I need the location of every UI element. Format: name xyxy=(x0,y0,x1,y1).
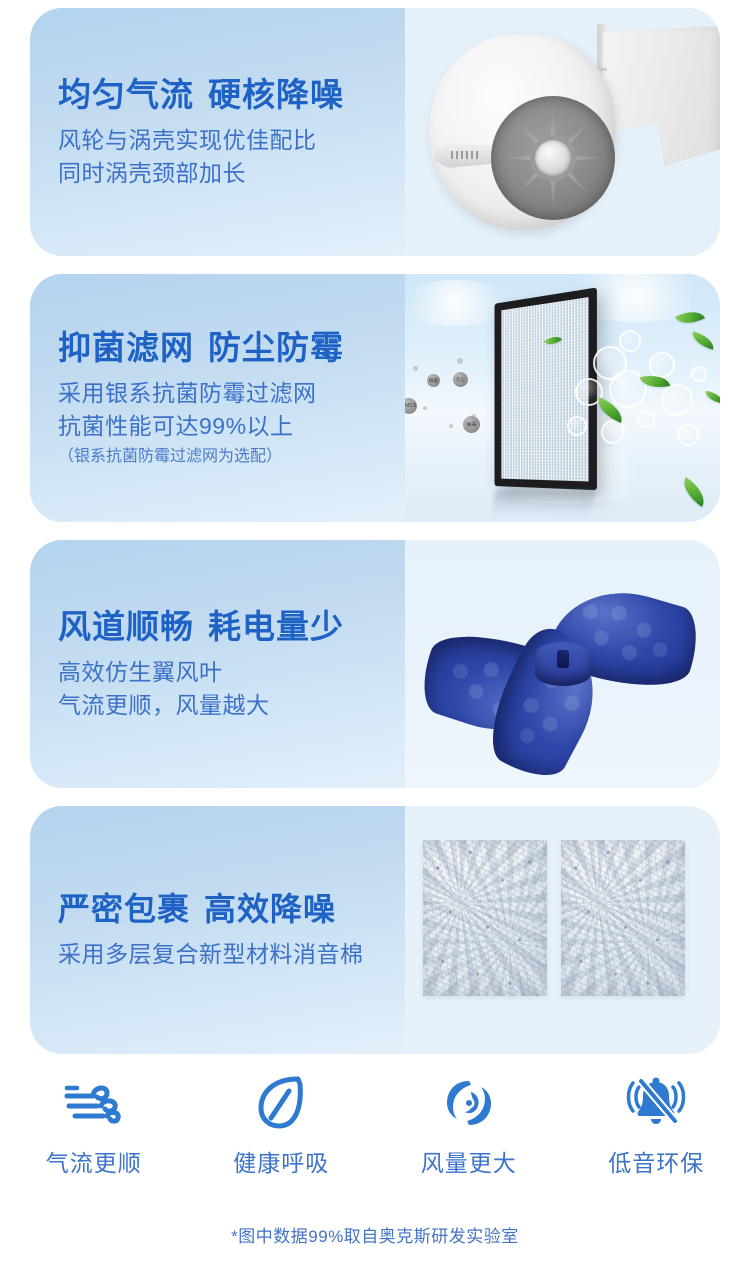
card-title-right: 耗电量少 xyxy=(208,608,344,645)
bubble xyxy=(619,330,641,352)
feature-icon-item-airvolume: 风量更大 xyxy=(384,1070,554,1178)
blower-impeller xyxy=(491,96,615,220)
card-text-pane: 抑菌滤网防尘防霉 采用银系抗菌防霉过滤网 抗菌性能可达99%以上 （银系抗菌防霉… xyxy=(30,274,405,522)
card-title: 风道顺畅耗电量少 xyxy=(58,606,405,647)
feature-card-airflow-noise: 均匀气流硬核降噪 风轮与涡壳实现优佳配比 同时涡壳颈部加长 xyxy=(30,8,720,256)
bubble xyxy=(601,420,625,444)
card-text-pane: 均匀气流硬核降噪 风轮与涡壳实现优佳配比 同时涡壳颈部加长 xyxy=(30,8,405,256)
card-title: 抑菌滤网防尘防霉 xyxy=(58,327,405,368)
bell-muted-icon xyxy=(571,1070,741,1136)
feature-card-tight-wrap-noise: 严密包裹高效降噪 采用多层复合新型材料消音棉 xyxy=(30,806,720,1054)
card-image-pane-fan-blade xyxy=(405,540,720,788)
acoustic-cotton-panel xyxy=(561,840,685,996)
card-subtitle-line-2: 同时涡壳颈部加长 xyxy=(58,157,405,190)
card-image-pane-air-filter: PM2.5 细菌 灰尘 病毒 xyxy=(405,274,720,522)
feature-icon-label: 气流更顺 xyxy=(9,1144,179,1178)
dust-dot xyxy=(423,406,427,410)
feature-icon-item-lownoise: 低音环保 xyxy=(571,1070,741,1178)
feature-icons-row: 气流更顺 健康呼吸 风量更大 xyxy=(0,1070,750,1190)
particle-icon: 病毒 xyxy=(463,416,480,433)
blower-motor-mount xyxy=(435,142,491,168)
card-image-pane-acoustic-cotton xyxy=(405,806,720,1054)
card-subtitle-line-1: 采用多层复合新型材料消音棉 xyxy=(58,938,405,971)
card-title: 均匀气流硬核降噪 xyxy=(58,74,405,115)
feature-card-antibacterial-filter: 抑菌滤网防尘防霉 采用银系抗菌防霉过滤网 抗菌性能可达99%以上 （银系抗菌防霉… xyxy=(30,274,720,522)
card-subtitle-line-1: 风轮与涡壳实现优佳配比 xyxy=(58,124,405,157)
card-subtitle-line-1: 高效仿生翼风叶 xyxy=(58,656,405,689)
filter-reflection xyxy=(490,490,596,516)
card-title-right: 高效降噪 xyxy=(204,891,336,927)
blower-hub xyxy=(535,140,571,176)
blower-scroll-housing xyxy=(429,34,615,230)
acoustic-cotton-panel xyxy=(423,840,547,996)
footnote-text: *图中数据99%取自奥克斯研发实验室 xyxy=(0,1222,750,1247)
bubble xyxy=(691,366,707,382)
feature-icon-label: 低音环保 xyxy=(571,1144,741,1178)
bubble xyxy=(661,384,693,416)
card-note: （银系抗菌防霉过滤网为选配） xyxy=(58,445,405,469)
feature-icon-item-health: 健康呼吸 xyxy=(196,1070,366,1178)
card-text-pane: 严密包裹高效降噪 采用多层复合新型材料消音棉 xyxy=(30,806,405,1054)
feature-icon-item-airflow: 气流更顺 xyxy=(9,1070,179,1178)
card-title-left: 均匀气流 xyxy=(58,76,194,113)
fan-hub xyxy=(535,642,591,686)
fan-cyclone-icon xyxy=(384,1070,554,1136)
feature-icon-label: 风量更大 xyxy=(384,1144,554,1178)
card-title-left: 风道顺畅 xyxy=(58,608,194,645)
dust-dot xyxy=(457,358,463,364)
product-feature-page: 均匀气流硬核降噪 风轮与涡壳实现优佳配比 同时涡壳颈部加长 xyxy=(0,0,750,1283)
bubble xyxy=(677,424,699,446)
dust-dot xyxy=(413,366,418,371)
card-text-pane: 风道顺畅耗电量少 高效仿生翼风叶 气流更顺，风量越大 xyxy=(30,540,405,788)
card-image-pane-centrifugal-blower xyxy=(405,8,720,256)
leaf-icon xyxy=(196,1070,366,1136)
wind-icon xyxy=(9,1070,179,1136)
dust-dot xyxy=(449,424,453,428)
card-title-left: 严密包裹 xyxy=(58,891,190,927)
card-subtitle-line-1: 采用银系抗菌防霉过滤网 xyxy=(58,377,405,410)
feature-card-smooth-airduct: 风道顺畅耗电量少 高效仿生翼风叶 气流更顺，风量越大 xyxy=(30,540,720,788)
bubble xyxy=(567,416,587,436)
particle-icon: 细菌 xyxy=(427,374,440,387)
card-title: 严密包裹高效降噪 xyxy=(58,889,405,929)
bubble xyxy=(637,410,655,428)
card-subtitle-line-2: 抗菌性能可达99%以上 xyxy=(58,410,405,443)
card-title-right: 防尘防霉 xyxy=(208,329,344,366)
bubble xyxy=(649,352,675,378)
card-title-left: 抑菌滤网 xyxy=(58,329,194,366)
card-subtitle-line-2: 气流更顺，风量越大 xyxy=(58,689,405,722)
feature-icon-label: 健康呼吸 xyxy=(196,1144,366,1178)
particle-icon: 灰尘 xyxy=(453,372,468,387)
card-title-right: 硬核降噪 xyxy=(208,76,344,113)
